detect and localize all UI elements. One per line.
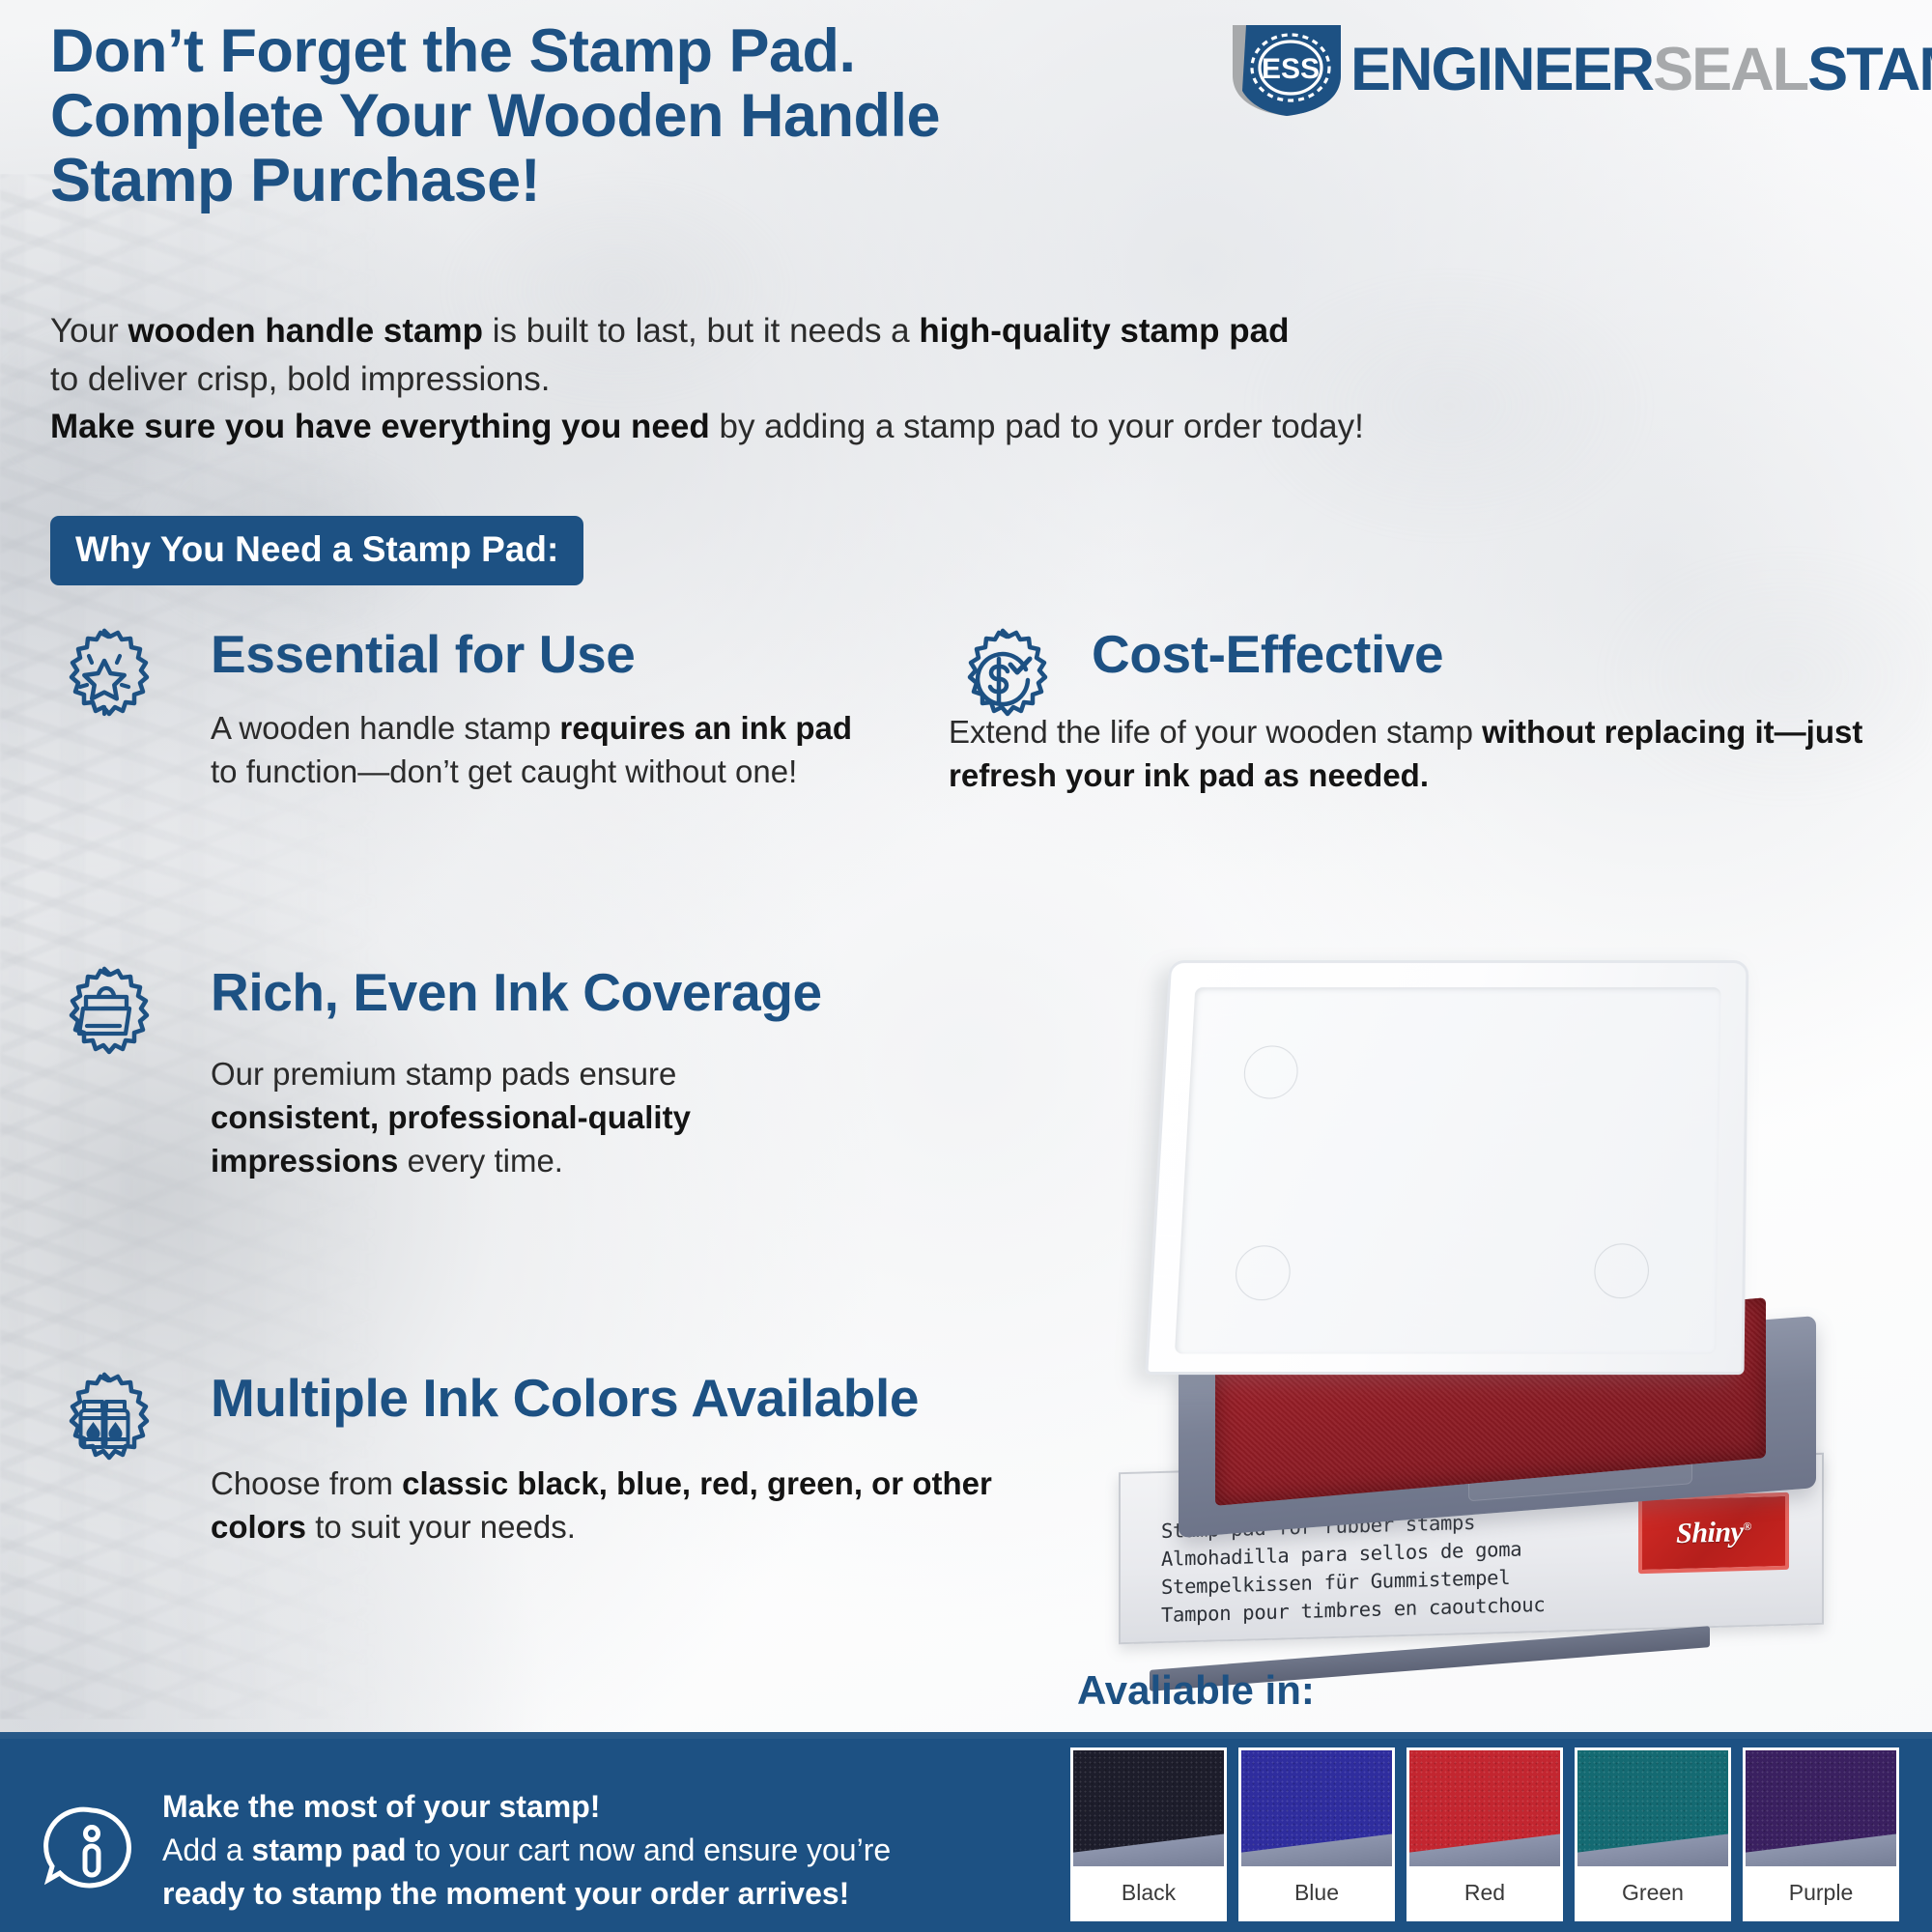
star-badge-icon bbox=[50, 626, 158, 734]
swatch-green[interactable]: Green bbox=[1575, 1747, 1731, 1921]
feature-title: Multiple Ink Colors Available bbox=[211, 1370, 1007, 1426]
footer-line-2-a: Add a bbox=[162, 1833, 252, 1867]
stamp-pad-lid-inner bbox=[1175, 987, 1721, 1353]
swatch-red[interactable]: Red bbox=[1406, 1747, 1563, 1921]
feature-body: Extend the life of your wooden stamp wit… bbox=[949, 711, 1915, 798]
infographic-page: Don’t Forget the Stamp Pad. Complete You… bbox=[0, 0, 1932, 1932]
available-in-heading: Avaliable in: bbox=[1077, 1667, 1315, 1714]
headline-line-2: Complete Your Wooden Handle bbox=[50, 84, 1200, 149]
ink-color-swatch-list: Black Blue Red Green Purple bbox=[1070, 1739, 1920, 1932]
logo-word-engineer: ENGINEER bbox=[1350, 40, 1653, 100]
intro-line-2: to deliver crisp, bold impressions. bbox=[50, 355, 1692, 404]
lid-mold-mark bbox=[1235, 1245, 1292, 1300]
intro-text-c: is built to last, but it needs a bbox=[483, 312, 919, 350]
swatch-image bbox=[1241, 1750, 1392, 1866]
svg-text:ESS: ESS bbox=[1262, 53, 1320, 85]
feature-title: Cost-Effective bbox=[1092, 626, 1915, 682]
feature-multiple-ink-colors: Multiple Ink Colors Available Choose fro… bbox=[50, 1370, 1007, 1549]
footer-line-1-text: Make the most of your stamp! bbox=[162, 1789, 600, 1824]
feature-body-a: Choose from bbox=[211, 1465, 402, 1501]
lid-mold-mark bbox=[1594, 1243, 1650, 1298]
section-banner: Why You Need a Stamp Pad: bbox=[50, 516, 583, 585]
feature-body: A wooden handle stamp requires an ink pa… bbox=[211, 707, 877, 794]
stamp-pad-lid bbox=[1145, 960, 1748, 1375]
logo-wordmark: ENGINEER SEAL STAMPS .COM bbox=[1350, 40, 1932, 100]
swatch-label: Blue bbox=[1241, 1866, 1392, 1918]
intro-text-b: wooden handle stamp bbox=[128, 312, 483, 350]
ess-shield-icon: ESS bbox=[1227, 19, 1350, 120]
headline-line-1: Don’t Forget the Stamp Pad. bbox=[50, 19, 1200, 84]
footer-line-2-b: stamp pad bbox=[252, 1833, 407, 1867]
swatch-image bbox=[1073, 1750, 1224, 1866]
intro-text-a: Your bbox=[50, 312, 128, 350]
shiny-brand-text: Shiny® bbox=[1676, 1516, 1751, 1550]
rubber-stamp-badge-icon bbox=[50, 964, 158, 1072]
feature-rich-even-ink-coverage: Rich, Even Ink Coverage Our premium stam… bbox=[50, 964, 891, 1183]
lid-mold-mark bbox=[1243, 1045, 1299, 1098]
intro-line-1: Your wooden handle stamp is built to las… bbox=[50, 307, 1692, 355]
footer-line-2-c: to your cart now and ensure you’re bbox=[407, 1833, 892, 1867]
swatch-image bbox=[1577, 1750, 1728, 1866]
feature-body-c: to function—don’t get caught without one… bbox=[211, 753, 797, 789]
feature-body: Our premium stamp pads ensure consistent… bbox=[211, 1053, 848, 1183]
footer-line-3-text: ready to stamp the moment your order arr… bbox=[162, 1876, 849, 1911]
product-photo: C - S Stamp pad for rubber stamps Almoha… bbox=[1092, 947, 1864, 1662]
swatch-black[interactable]: Black bbox=[1070, 1747, 1227, 1921]
ink-bottles-badge-icon bbox=[50, 1370, 158, 1478]
feature-body-c: to suit your needs. bbox=[306, 1509, 576, 1545]
brand-logo: ESS ENGINEER SEAL STAMPS .COM bbox=[1227, 17, 1922, 122]
feature-title: Essential for Use bbox=[211, 626, 891, 682]
swatch-label: Red bbox=[1409, 1866, 1560, 1918]
footer-line-2: Add a stamp pad to your cart now and ens… bbox=[162, 1829, 1032, 1872]
footer-line-1: Make the most of your stamp! bbox=[162, 1785, 1032, 1829]
intro-text-e: Make sure you have everything you need bbox=[50, 408, 710, 445]
swatch-label: Purple bbox=[1746, 1866, 1896, 1918]
feature-essential-for-use: Essential for Use A wooden handle stamp … bbox=[50, 626, 891, 794]
intro-line-3: Make sure you have everything you need b… bbox=[50, 403, 1692, 451]
swatch-purple[interactable]: Purple bbox=[1743, 1747, 1899, 1921]
shiny-brand-badge: Shiny® bbox=[1638, 1492, 1789, 1574]
swatch-label: Green bbox=[1577, 1866, 1728, 1918]
swatch-image bbox=[1409, 1750, 1560, 1866]
feature-cost-effective: Cost-Effective Extend the life of your w… bbox=[949, 626, 1915, 798]
page-title: Don’t Forget the Stamp Pad. Complete You… bbox=[50, 19, 1200, 213]
intro-text-d: high-quality stamp pad bbox=[919, 312, 1289, 350]
swatch-label: Black bbox=[1073, 1866, 1224, 1918]
footer-top-rule bbox=[0, 1732, 1932, 1739]
info-bubble-icon bbox=[41, 1799, 143, 1901]
feature-body-a: A wooden handle stamp bbox=[211, 710, 559, 746]
feature-body-b: requires an ink pad bbox=[559, 710, 852, 746]
feature-body-a: Our premium stamp pads ensure bbox=[211, 1056, 676, 1092]
intro-text-f: by adding a stamp pad to your order toda… bbox=[710, 408, 1364, 445]
feature-body-c: every time. bbox=[398, 1143, 563, 1179]
feature-title: Rich, Even Ink Coverage bbox=[211, 964, 891, 1020]
feature-body: Choose from classic black, blue, red, gr… bbox=[211, 1463, 1012, 1549]
intro-paragraph: Your wooden handle stamp is built to las… bbox=[50, 307, 1692, 451]
logo-word-seal: SEAL bbox=[1653, 40, 1807, 100]
dollar-check-badge-icon bbox=[949, 626, 1057, 734]
logo-word-stamps: STAMPS bbox=[1807, 40, 1932, 100]
footer-message: Make the most of your stamp! Add a stamp… bbox=[162, 1785, 1032, 1915]
headline-line-3: Stamp Purchase! bbox=[50, 149, 1200, 213]
footer-line-3: ready to stamp the moment your order arr… bbox=[162, 1872, 1032, 1916]
swatch-image bbox=[1746, 1750, 1896, 1866]
swatch-blue[interactable]: Blue bbox=[1238, 1747, 1395, 1921]
